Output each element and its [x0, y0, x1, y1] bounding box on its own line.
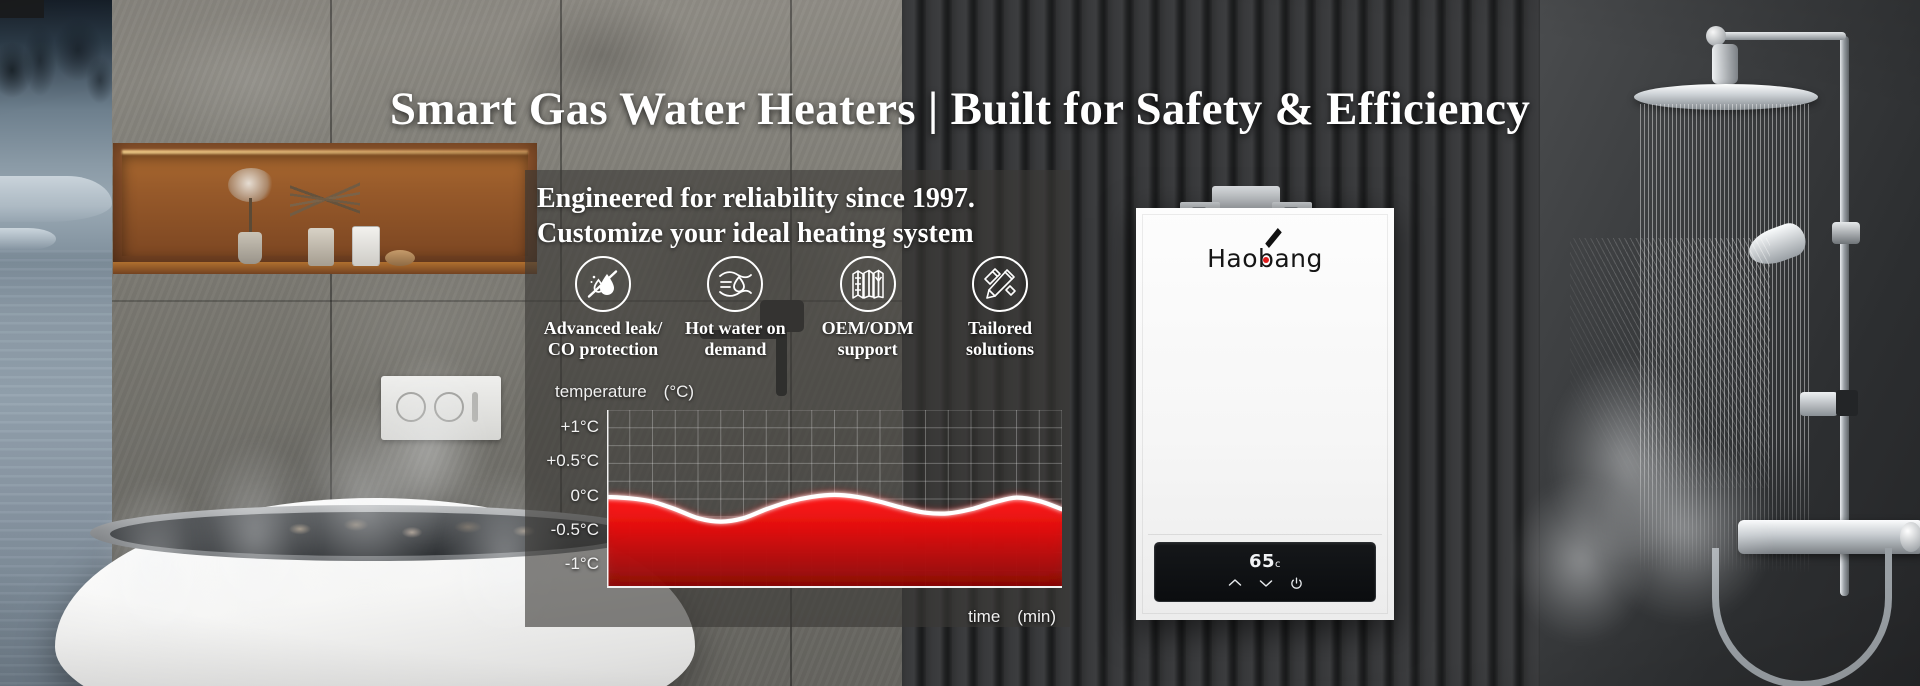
temperature-up-button[interactable]	[1228, 577, 1242, 590]
lake-snow-bank	[0, 176, 112, 222]
feature-label-line-2: demand	[671, 339, 799, 360]
heater-panel-seam	[1148, 534, 1382, 535]
control-buttons	[1155, 577, 1375, 590]
temperature-down-button[interactable]	[1259, 577, 1273, 590]
temperature-stability-chart: temperature (°C) time (min) +1°C+0.5°C0°…	[525, 382, 1070, 627]
feature-label-line-1: OEM/ODM	[804, 318, 932, 339]
brand-logo: Haobang	[1136, 244, 1394, 273]
page-title: Smart Gas Water Heaters | Built for Safe…	[0, 82, 1920, 136]
subtitle-line-1: Engineered for reliability since 1997.	[537, 182, 1070, 215]
decor-reed-diffuser	[290, 163, 360, 235]
shower-arm-elbow	[1706, 26, 1726, 46]
feature-label-line-2: support	[804, 339, 932, 360]
hot-water-on-demand-icon	[707, 256, 763, 312]
feature-item-oem-odm-support[interactable]: OEM/ODM support	[804, 256, 932, 359]
chart-y-tick-label: -1°C	[565, 554, 599, 574]
lake-snow-bank-small	[0, 228, 56, 250]
subtitle-line-2: Customize your ideal heating system	[537, 217, 1070, 250]
thermostatic-knob	[1900, 522, 1920, 552]
power-button[interactable]	[1290, 577, 1303, 590]
gas-water-heater-unit: Haobang 65c	[1136, 208, 1394, 620]
chart-y-tick-label: +1°C	[561, 417, 599, 437]
shower-arm	[1718, 32, 1846, 40]
chart-y-axis-ticks: +1°C+0.5°C0°C-0.5°C-1°C	[525, 410, 603, 588]
feature-label-line-1: Advanced leak/	[539, 318, 667, 339]
temperature-unit: c	[1275, 559, 1281, 570]
chart-plot-area	[607, 410, 1062, 588]
feature-label-line-2: solutions	[936, 339, 1064, 360]
decor-vase	[238, 232, 262, 264]
feature-label-line-2: CO protection	[539, 339, 667, 360]
shower-slider-bracket	[1832, 222, 1860, 244]
hand-shower-holder	[1800, 392, 1838, 416]
chart-x-axis-label: time (min)	[968, 607, 1056, 627]
niche-led-strip	[122, 150, 528, 154]
chart-y-tick-label: 0°C	[570, 486, 599, 506]
decor-dried-flower	[228, 168, 274, 202]
decor-stone	[385, 250, 415, 266]
shower-head-neck	[1712, 44, 1738, 84]
tailored-solutions-icon	[972, 256, 1028, 312]
decor-diffuser-bottle	[308, 228, 334, 266]
steam-wisp	[1516, 480, 1646, 640]
feature-label-line-1: Tailored	[936, 318, 1064, 339]
decor-white-box	[352, 226, 380, 266]
heater-control-panel[interactable]: 65c	[1154, 542, 1376, 602]
feature-item-hot-water-on-demand[interactable]: Hot water on demand	[671, 256, 799, 359]
feature-label-line-1: Hot water on	[671, 318, 799, 339]
feature-list: Advanced leak/ CO protection Hot water o…	[533, 256, 1070, 359]
logo-red-dot-icon	[1263, 257, 1269, 263]
shower-bar-clamp	[1836, 390, 1858, 416]
chart-graphic	[607, 410, 1062, 588]
temperature-display: 65c	[1155, 551, 1375, 572]
hero-banner: Haobang 65c	[0, 0, 1920, 686]
chart-y-tick-label: +0.5°C	[546, 451, 599, 471]
feature-item-leak-co-protection[interactable]: Advanced leak/ CO protection	[539, 256, 667, 359]
chart-y-axis-label: temperature (°C)	[555, 382, 694, 402]
chart-y-tick-label: -0.5°C	[551, 520, 599, 540]
oem-odm-icon	[840, 256, 896, 312]
info-overlay-panel: Engineered for reliability since 1997. C…	[525, 170, 1070, 627]
steam-wisp	[96, 480, 216, 650]
leak-co-protection-icon	[575, 256, 631, 312]
temperature-value: 65	[1249, 551, 1275, 572]
feature-item-tailored-solutions[interactable]: Tailored solutions	[936, 256, 1064, 359]
